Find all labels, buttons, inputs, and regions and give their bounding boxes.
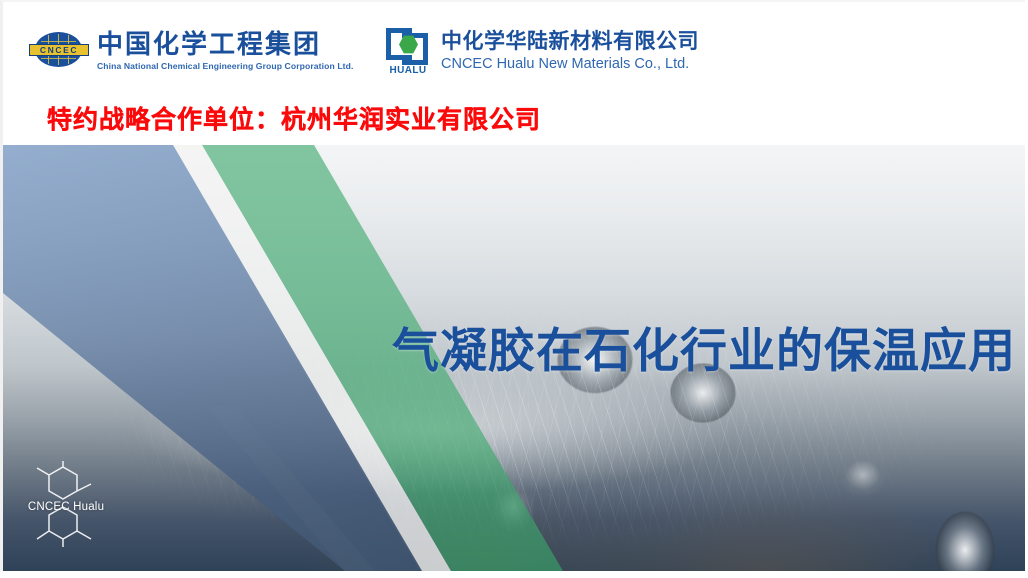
footer-strip bbox=[0, 571, 1028, 578]
hero-title: 气凝胶在石化行业的保温应用 bbox=[392, 323, 1016, 379]
hero-banner: CNCEC Hualu 气凝胶在石化行业的保温应用 bbox=[0, 145, 1028, 571]
hualu-name-cn: 中化学华陆新材料有限公司 bbox=[441, 30, 699, 54]
hualu-wordmark: HUALU bbox=[384, 65, 432, 76]
cncec-name-en: China National Chemical Engineering Grou… bbox=[97, 60, 353, 72]
logo-row: CNCEC 中国化学工程集团 China National Chemical E… bbox=[3, 24, 1028, 80]
cncec-globe-wordmark: CNCEC bbox=[29, 44, 89, 56]
logo-cncec-hualu: HUALU 中化学华陆新材料有限公司 CNCEC Hualu New Mater… bbox=[384, 26, 699, 76]
presentation-slide: CNCEC 中国化学工程集团 China National Chemical E… bbox=[0, 0, 1028, 578]
cncec-globe-icon: CNCEC bbox=[29, 32, 89, 68]
partner-line: 特约战略合作单位：杭州华润实业有限公司 bbox=[47, 100, 541, 136]
watermark-label: CNCEC Hualu bbox=[11, 501, 121, 513]
cncec-text-block: 中国化学工程集团 China National Chemical Enginee… bbox=[97, 30, 353, 72]
logo-cncec-group: CNCEC 中国化学工程集团 China National Chemical E… bbox=[29, 30, 353, 72]
slide-header: CNCEC 中国化学工程集团 China National Chemical E… bbox=[0, 0, 1028, 145]
hualu-name-en: CNCEC Hualu New Materials Co., Ltd. bbox=[441, 55, 699, 73]
globe-parallel bbox=[41, 41, 76, 42]
hualu-bracket-hexagon-icon: HUALU bbox=[384, 26, 432, 76]
cncec-name-cn: 中国化学工程集团 bbox=[97, 30, 353, 58]
watermark: CNCEC Hualu bbox=[11, 461, 121, 553]
globe-parallel bbox=[41, 58, 76, 59]
hualu-text-block: 中化学华陆新材料有限公司 CNCEC Hualu New Materials C… bbox=[441, 30, 699, 73]
